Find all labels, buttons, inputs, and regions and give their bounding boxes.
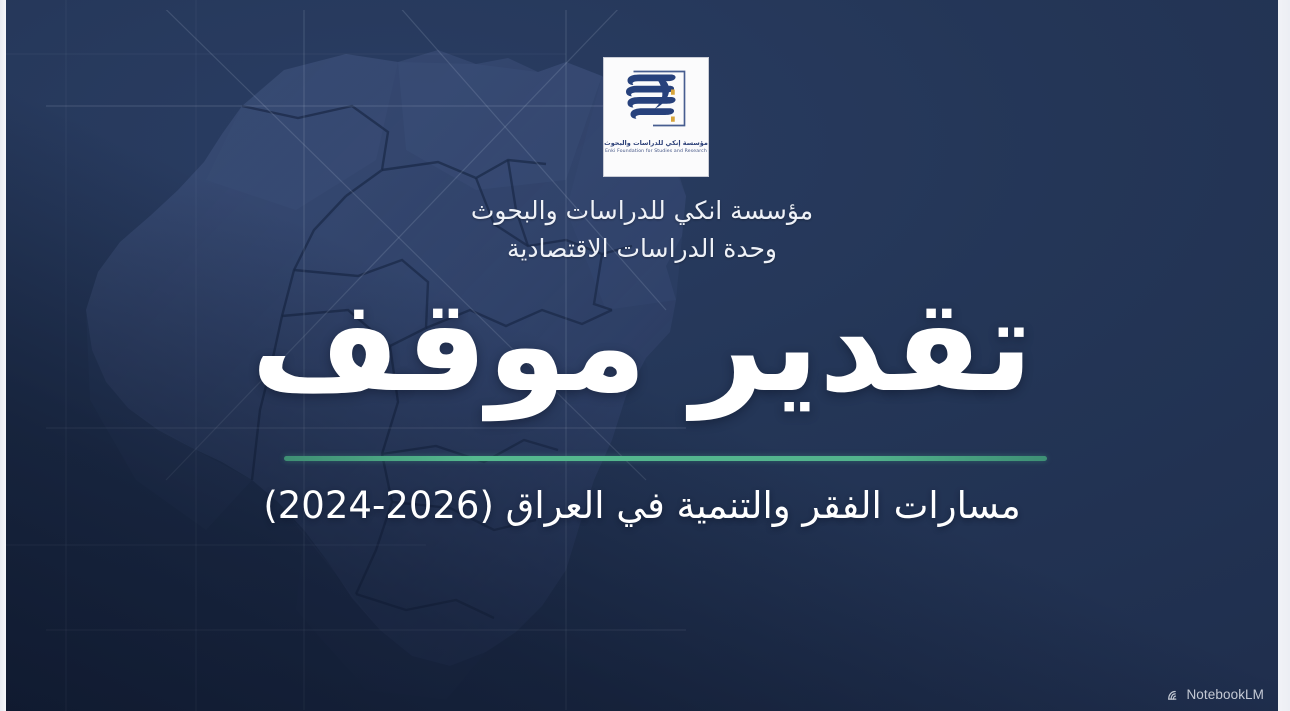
organization-block: مؤسسة انكي للدراسات والبحوث وحدة الدراسا… (6, 192, 1278, 268)
notebooklm-label: NotebookLM (1186, 687, 1264, 702)
organization-unit: وحدة الدراسات الاقتصادية (6, 230, 1278, 268)
logo-arabic-name: مؤسسة إنكي للدراسات والبحوث (604, 139, 708, 147)
notebooklm-icon (1167, 688, 1181, 702)
slide-canvas: مؤسسة إنكي للدراسات والبحوث Enki Foundat… (6, 0, 1278, 711)
organization-name: مؤسسة انكي للدراسات والبحوث (6, 192, 1278, 230)
logo-english-name: Enki Foundation for Studies and Research (605, 149, 707, 154)
title-divider (284, 456, 1047, 461)
page-edge-right (1278, 0, 1290, 711)
organization-logo-card: مؤسسة إنكي للدراسات والبحوث Enki Foundat… (603, 57, 709, 177)
notebooklm-watermark: NotebookLM (1167, 687, 1264, 702)
presentation-slide: مؤسسة إنكي للدراسات والبحوث Enki Foundat… (0, 0, 1290, 711)
enki-foundation-emblem-icon (618, 67, 694, 133)
emblem-gold-accent (671, 90, 675, 122)
slide-main-title: تقدير موقف (6, 272, 1278, 422)
slide-subtitle: مسارات الفقر والتنمية في العراق (2026-20… (6, 478, 1278, 534)
